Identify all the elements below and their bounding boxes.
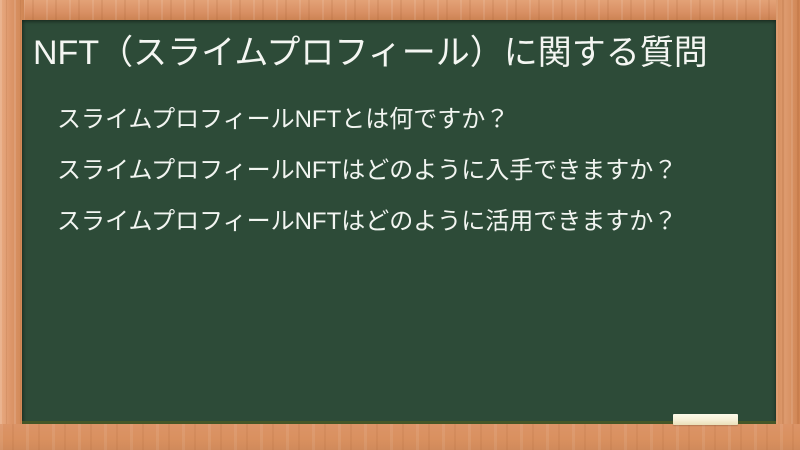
wood-frame-right [776,0,800,450]
chalkboard-surface: NFT（スライムプロフィール）に関する質問 スライムプロフィールNFTとは何です… [22,20,776,424]
chalk-stick-icon [673,414,738,425]
page-title: NFT（スライムプロフィール）に関する質問 [33,20,723,76]
wood-frame-bottom [0,424,800,450]
list-item: スライムプロフィールNFTとは何ですか？ [33,103,737,136]
wood-frame-left [0,0,24,450]
board-text-content: NFT（スライムプロフィール）に関する質問 スライムプロフィールNFTとは何です… [33,20,733,256]
board-bottom-seam [22,421,776,424]
chalkboard-slide: NFT（スライムプロフィール）に関する質問 スライムプロフィールNFTとは何です… [0,0,800,450]
list-item: スライムプロフィールNFTはどのように入手できますか？ [33,154,737,187]
question-list: スライムプロフィールNFTとは何ですか？ スライムプロフィールNFTはどのように… [33,103,733,238]
list-item: スライムプロフィールNFTはどのように活用できますか？ [33,205,737,238]
wood-frame-top [0,0,800,22]
